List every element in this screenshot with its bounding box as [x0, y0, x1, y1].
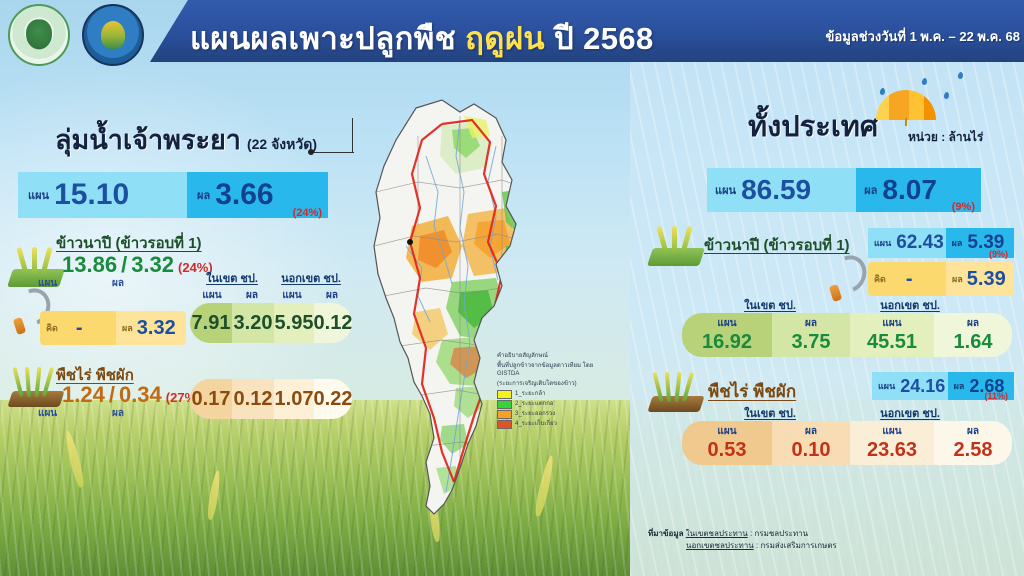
- legend-label-stage-1: 1_ระยะกล้า: [515, 390, 546, 399]
- harvest-result-label: ผล: [122, 321, 133, 335]
- nationwide-fieldcrop-result-cell: ผล 2.68 (11%): [948, 372, 1014, 400]
- harvest-result-label: ผล: [952, 272, 963, 286]
- nationwide-rice-inzone-result-value: 3.75: [792, 331, 831, 354]
- basin-rice-slash: /: [121, 252, 127, 278]
- basin-total-pct: (24%): [293, 207, 322, 219]
- nationwide-fieldcrop-inzone-heading: ในเขต ชป.: [730, 404, 810, 422]
- map-leader-dot: [308, 149, 314, 155]
- nationwide-rice-heading: ข้าวนาปี (ข้าวรอบที่ 1): [704, 233, 850, 257]
- plan-label: แผน: [715, 181, 736, 199]
- basin-rice-plan-value: 13.86: [62, 252, 117, 278]
- basin-fieldcrop-outzone-result-value: 0.22: [314, 388, 352, 411]
- legend-item: 1_ระยะกล้า: [497, 390, 617, 399]
- nationwide-fieldcrop-plan-value: 24.16: [900, 376, 945, 397]
- result-label: ผล: [197, 186, 210, 204]
- plan-label: แผน: [717, 316, 736, 331]
- legend-label-stage-4: 4_ระยะเก็บเกี่ยว: [515, 420, 557, 429]
- nationwide-total-plan-cell: แผน 86.59: [707, 168, 856, 212]
- page-title: แผนผลเพาะปลูกพืช ฤดูฝน ปี 2568: [190, 13, 654, 63]
- royal-thai-government-garuda-emblem-icon: [8, 4, 70, 66]
- basin-fieldcrop-plan-value: 1.24: [62, 382, 105, 408]
- plan-label: แผน: [874, 236, 891, 250]
- basin-rice-summary: 13.86 / 3.32 (24%): [62, 252, 213, 278]
- nationwide-harvest-result-value: 5.39: [967, 268, 1006, 291]
- emblem-group: [8, 4, 144, 66]
- nationwide-rice-plan-cell: แผน 62.43: [868, 228, 946, 258]
- basin-fieldcrop-summary: 1.24 / 0.34 (27%): [62, 382, 200, 408]
- basin-rice-result-label: ผล: [112, 276, 124, 291]
- result-label: ผล: [805, 316, 817, 331]
- map-leader-line: [312, 152, 354, 153]
- basin-rice-outzone-plan-cell: 5.95: [274, 303, 314, 343]
- nationwide-rice-outzone-plan-value: 45.51: [867, 331, 917, 354]
- basin-harvest-result-value: 3.32: [137, 317, 176, 340]
- basin-rice-inzone-plan-value: 7.91: [192, 312, 231, 335]
- rice-seedling-icon: [648, 222, 704, 266]
- basin-rice-outzone-result-value: 0.12: [314, 312, 352, 335]
- basin-rice-outzone-plan-value: 5.95: [275, 312, 314, 335]
- nationwide-fieldcrop-heading: พืชไร่ พืชผัก: [708, 378, 796, 405]
- result-label: ผล: [805, 424, 817, 439]
- thailand-rice-growth-stage-map: [356, 96, 556, 526]
- nationwide-fieldcrop-plan-cell: แผน 24.16: [872, 372, 948, 400]
- source-value-out: : กรมส่งเสริมการเกษตร: [756, 541, 837, 550]
- basin-fieldcrop-zone-bar: 0.17 0.12 (71%) 1.07 0.22 (21%): [190, 379, 352, 419]
- legend-caption-3: (ระยะการเจริญเติบโตของข้าว): [497, 380, 617, 389]
- rice-icon-blade: [32, 247, 37, 275]
- nationwide-rice-inzone-plan-cell: แผน 16.92: [682, 313, 772, 357]
- unit-label: หน่วย : ล้านไร่: [908, 128, 983, 147]
- basin-fieldcrop-outzone-result-cell: 0.22 (21%): [314, 379, 352, 419]
- basin-fieldcrop-plan-label: แผน: [38, 406, 57, 421]
- umbrella-canopy: [876, 90, 936, 120]
- basin-fieldcrop-outzone-plan-cell: 1.07: [274, 379, 314, 419]
- nationwide-total-pct: (9%): [952, 201, 975, 213]
- map-legend: คำอธิบายสัญลักษณ์ พื้นที่ปลูกข้าวจากข้อม…: [497, 352, 617, 429]
- basin-rice-inzone-plan-label: แผน: [192, 288, 232, 303]
- source-zone-in: ในเขตชลประทาน: [686, 529, 748, 538]
- source-zone-out: นอกเขตชลประทาน: [686, 541, 754, 550]
- basin-rice-inzone-result-cell: 3.20 (40%): [232, 303, 274, 343]
- nationwide-harvest-result-cell: ผล 5.39: [946, 262, 1014, 296]
- nationwide-fieldcrop-bar: แผน 24.16 ผล 2.68 (11%): [872, 372, 1014, 400]
- basin-province-count: (22 จังหวัด): [247, 134, 317, 156]
- legend-item: 4_ระยะเก็บเกี่ยว: [497, 420, 617, 429]
- basin-total-bar: แผน 15.10 ผล 3.66 (24%): [18, 172, 328, 218]
- field-crop-icon-blade: [665, 372, 671, 402]
- legend-swatch-stage-4: [497, 420, 512, 429]
- basin-rice-inzone-heading: ในเขต ชป.: [196, 269, 268, 287]
- chao-phraya-basin-title: ลุ่มน้ำเจ้าพระยา (22 จังหวัด): [55, 118, 317, 161]
- nationwide-rice-outzone-result-value: 1.64: [954, 331, 993, 354]
- result-label: ผล: [967, 316, 979, 331]
- nationwide-fieldcrop-outzone-plan-value: 23.63: [867, 439, 917, 462]
- plan-label: แผน: [882, 424, 901, 439]
- nationwide-fieldcrop-zone-bar: แผน 0.53 ผล 0.10 (19%) แผน 23.63 ผล 2.58…: [682, 421, 1012, 465]
- plan-label: แผน: [882, 316, 901, 331]
- nationwide-rice-plan-value: 62.43: [896, 232, 944, 254]
- header-title-group: แผนผลเพาะปลูกพืช ฤดูฝน ปี 2568: [190, 13, 654, 63]
- basin-fieldcrop-inzone-result-cell: 0.12 (71%): [232, 379, 274, 419]
- nationwide-fieldcrop-inzone-result-cell: ผล 0.10 (19%): [772, 421, 850, 465]
- harvest-plan-label: คิด: [874, 272, 886, 286]
- source-prefix: ที่มาข้อมูล: [648, 529, 684, 538]
- basin-fieldcrop-outzone-plan-value: 1.07: [275, 388, 314, 411]
- legend-label-stage-2: 2_ระยะแตกกอ: [515, 400, 554, 409]
- field-crop-icon-blade: [25, 367, 31, 397]
- nationwide-fieldcrop-outzone-result-cell: ผล 2.58 (11%): [934, 421, 1012, 465]
- nationwide-fieldcrop-inzone-plan-cell: แผน 0.53: [682, 421, 772, 465]
- basin-total-plan-cell: แผน 15.10: [18, 172, 187, 218]
- thailand-map-svg: [356, 96, 556, 526]
- legend-item: 3_ระยะออกรวง: [497, 410, 617, 419]
- legend-swatch-stage-3: [497, 410, 512, 419]
- nationwide-total-result-value: 8.07: [882, 174, 937, 206]
- nationwide-harvest-plan-value: -: [906, 268, 913, 291]
- basin-fieldcrop-inzone-plan-cell: 0.17: [190, 379, 232, 419]
- source-value-in: : กรมชลประทาน: [750, 529, 808, 538]
- nationwide-rice-outzone-plan-cell: แผน 45.51: [850, 313, 934, 357]
- nationwide-fieldcrop-pct: (11%): [984, 391, 1008, 401]
- basin-rice-outzone-plan-label: แผน: [272, 288, 312, 303]
- umbrella-rain-icon: [876, 82, 936, 126]
- nationwide-total-bar: แผน 86.59 ผล 8.07 (9%): [707, 168, 981, 212]
- basin-fieldcrop-result-label: ผล: [112, 406, 124, 421]
- nationwide-fieldcrop-outzone-plan-cell: แผน 23.63: [850, 421, 934, 465]
- nationwide-total-result-cell: ผล 8.07 (9%): [856, 168, 981, 212]
- nationwide-title: ทั้งประเทศ: [748, 103, 878, 149]
- nationwide-harvest-plan-cell: คิด -: [868, 262, 946, 296]
- basin-fieldcrop-inzone-result-value: 0.12: [234, 388, 273, 411]
- basin-rice-outzone-heading: นอกเขต ชป.: [272, 269, 350, 287]
- title-year: ปี 2568: [554, 21, 654, 56]
- basin-title-text: ลุ่มน้ำเจ้าพระยา: [55, 118, 241, 161]
- nationwide-rice-outzone-heading: นอกเขต ชป.: [868, 296, 952, 314]
- nationwide-fieldcrop-outzone-result-value: 2.58: [954, 439, 993, 462]
- rice-icon-blade: [672, 226, 677, 254]
- basin-fieldcrop-result-value: 0.34: [119, 382, 162, 408]
- nationwide-rice-inzone-heading: ในเขต ชป.: [730, 296, 810, 314]
- basin-harvest-plan-cell: คิด -: [40, 311, 116, 345]
- legend-label-stage-3: 3_ระยะออกรวง: [515, 410, 555, 419]
- basin-total-result-value: 3.66: [215, 178, 273, 212]
- nationwide-rice-bar: แผน 62.43 ผล 5.39 (9%): [868, 228, 1014, 258]
- plan-label: แผน: [717, 424, 736, 439]
- legend-item: 2_ระยะแตกกอ: [497, 400, 617, 409]
- source-note: ที่มาข้อมูล ในเขตชลประทาน : กรมชลประทาน …: [648, 528, 837, 552]
- basin-rice-harvest-bar: คิด - ผล 3.32: [40, 311, 186, 345]
- nationwide-rice-zone-bar: แผน 16.92 ผล 3.75 (22%) แผน 45.51 ผล 1.6…: [682, 313, 1012, 357]
- nationwide-rice-outzone-result-cell: ผล 1.64 (4%): [934, 313, 1012, 357]
- nationwide-total-plan-value: 86.59: [741, 174, 811, 206]
- basin-rice-zone-bar: 7.91 3.20 (40%) 5.95 0.12 (2%): [190, 303, 352, 343]
- nationwide-rice-inzone-result-cell: ผล 3.75 (22%): [772, 313, 850, 357]
- nationwide-rice-result-cell: ผล 5.39 (9%): [946, 228, 1014, 258]
- umbrella-stick: [905, 118, 907, 126]
- basin-rice-inzone-result-label: ผล: [232, 288, 272, 303]
- data-date-range: ข้อมูลช่วงวันที่ 1 พ.ค. – 22 พ.ค. 68: [826, 26, 1021, 47]
- nationwide-rice-pct: (9%): [989, 249, 1008, 259]
- nationwide-rice-inzone-plan-value: 16.92: [702, 331, 752, 354]
- result-label: ผล: [952, 236, 963, 250]
- source-line-1: ที่มาข้อมูล ในเขตชลประทาน : กรมชลประทาน: [648, 528, 837, 540]
- infographic-canvas: แผนผลเพาะปลูกพืช ฤดูฝน ปี 2568 ข้อมูลช่ว…: [0, 0, 1024, 576]
- basin-rice-inzone-plan-cell: 7.91: [190, 303, 232, 343]
- ministry-of-agriculture-emblem-icon: [82, 4, 144, 66]
- basin-total-plan-value: 15.10: [54, 178, 129, 212]
- basin-fieldcrop-slash: /: [109, 382, 115, 408]
- legend-swatch-stage-2: [497, 400, 512, 409]
- nationwide-rice-harvest-bar: คิด - ผล 5.39: [868, 262, 1014, 296]
- sickle-icon: [828, 255, 862, 301]
- basin-harvest-plan-value: -: [76, 317, 83, 340]
- nationwide-fieldcrop-outzone-heading: นอกเขต ชป.: [868, 404, 952, 422]
- basin-rice-outzone-result-label: ผล: [312, 288, 352, 303]
- basin-fieldcrop-inzone-plan-value: 0.17: [192, 388, 231, 411]
- result-label: ผล: [967, 424, 979, 439]
- legend-swatch-stage-1: [497, 390, 512, 399]
- map-location-marker: [407, 239, 413, 245]
- basin-rice-inzone-result-value: 3.20: [234, 312, 273, 335]
- legend-caption-2: พื้นที่ปลูกข้าวจากข้อมูลดาวเทียม โดย GIS…: [497, 362, 617, 379]
- basin-rice-outzone-result-cell: 0.12 (2%): [314, 303, 352, 343]
- title-season: ฤดูฝน: [465, 21, 545, 56]
- basin-harvest-result-cell: ผล 3.32: [116, 311, 186, 345]
- title-main: แผนผลเพาะปลูกพืช: [190, 21, 456, 56]
- field-crop-icon: [648, 368, 704, 412]
- harvest-plan-label: คิด: [46, 321, 58, 335]
- nationwide-fieldcrop-inzone-plan-value: 0.53: [708, 439, 747, 462]
- plan-label: แผน: [878, 379, 895, 393]
- result-label: ผล: [864, 181, 877, 199]
- basin-total-result-cell: ผล 3.66 (24%): [187, 172, 328, 218]
- source-line-2: นอกเขตชลประทาน : กรมส่งเสริมการเกษตร: [648, 540, 837, 552]
- nationwide-fieldcrop-inzone-result-value: 0.10: [792, 439, 831, 462]
- legend-caption-1: คำอธิบายสัญลักษณ์: [497, 352, 617, 361]
- result-label: ผล: [954, 379, 965, 393]
- basin-rice-result-value: 3.32: [131, 252, 174, 278]
- map-leader-line-vertical: [352, 118, 354, 152]
- plan-label: แผน: [28, 186, 49, 204]
